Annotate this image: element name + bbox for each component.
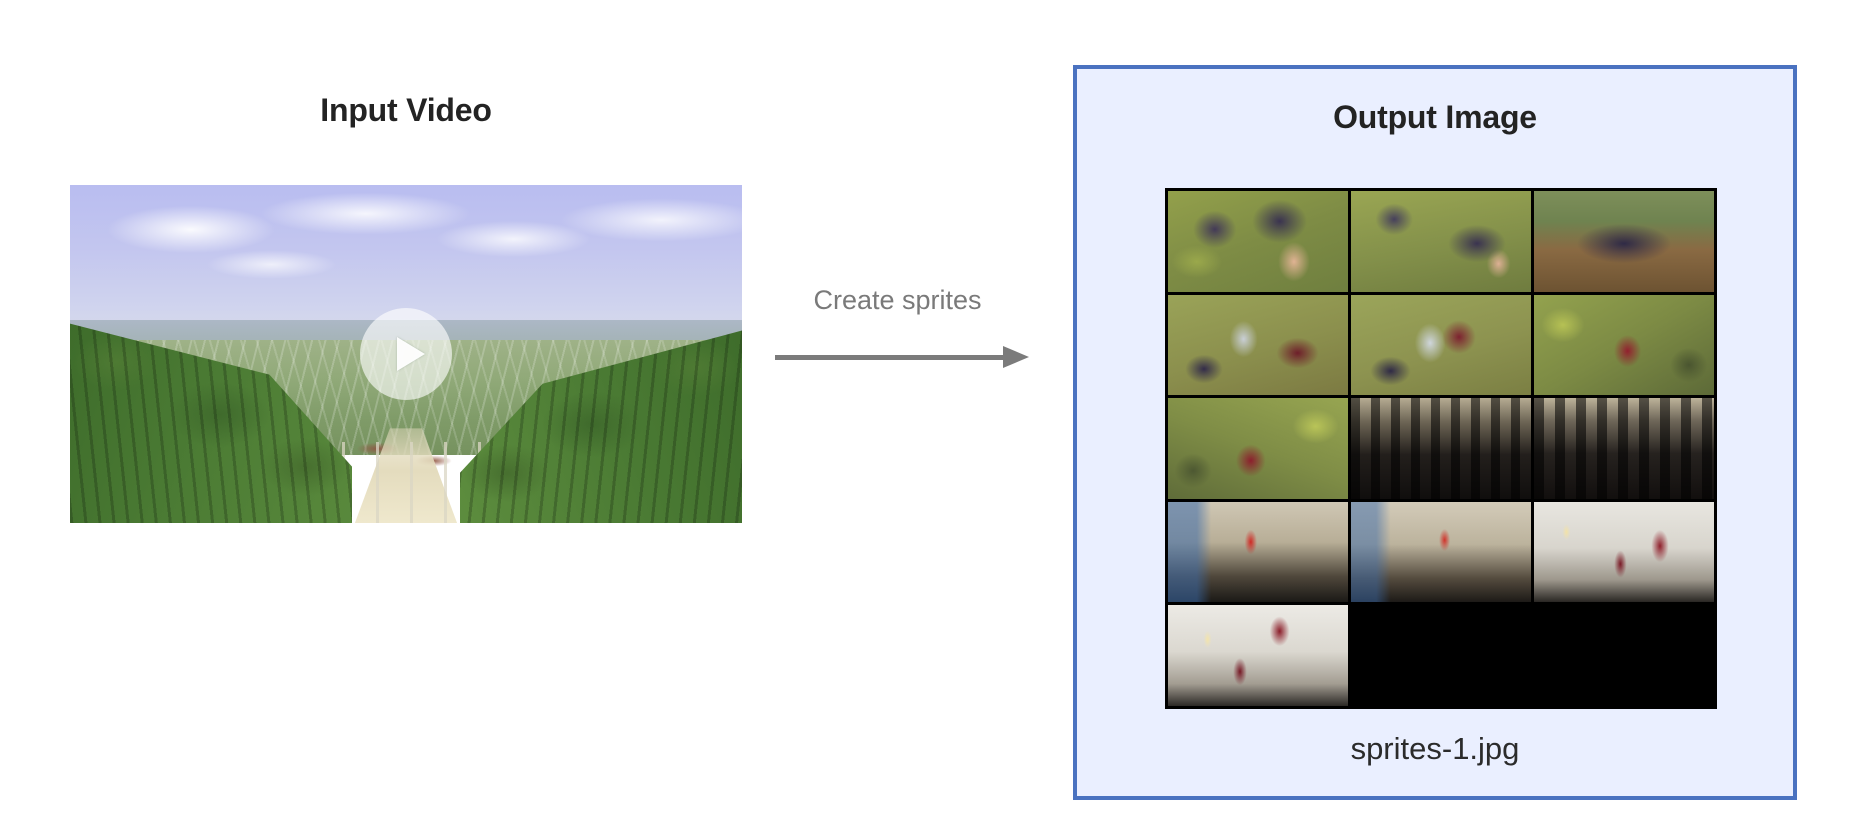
sprite-frame-13 [1168, 605, 1348, 706]
sprite-frame-3 [1534, 191, 1714, 292]
sprite-frame-1 [1168, 191, 1348, 292]
sprite-frame-6 [1534, 295, 1714, 396]
sprite-empty-cell-2 [1534, 605, 1714, 706]
sprite-frame-9 [1534, 398, 1714, 499]
sprite-filename-label: sprites-1.jpg [1077, 731, 1793, 767]
output-image-panel: Output Image sprites-1.jpg [1073, 65, 1797, 800]
sprite-frame-12 [1534, 502, 1714, 603]
arrow-line-icon [775, 355, 1007, 360]
create-sprites-connector: Create sprites [775, 285, 1035, 375]
connector-label: Create sprites [775, 285, 1020, 316]
sprite-frame-5 [1351, 295, 1531, 396]
sprite-frame-7 [1168, 398, 1348, 499]
output-image-title: Output Image [1077, 99, 1793, 136]
input-video-title: Input Video [70, 92, 742, 129]
sprite-frame-2 [1351, 191, 1531, 292]
sprite-frame-10 [1168, 502, 1348, 603]
input-video-section: Input Video [70, 70, 750, 540]
sprite-frame-4 [1168, 295, 1348, 396]
video-thumbnail[interactable] [70, 185, 742, 523]
sprite-frame-8 [1351, 398, 1531, 499]
sprite-sheet[interactable] [1165, 188, 1717, 709]
play-triangle-icon [397, 337, 425, 371]
sprite-frame-11 [1351, 502, 1531, 603]
sprite-empty-cell-1 [1351, 605, 1531, 706]
arrow-right-icon [1003, 346, 1029, 368]
play-icon[interactable] [360, 308, 452, 400]
